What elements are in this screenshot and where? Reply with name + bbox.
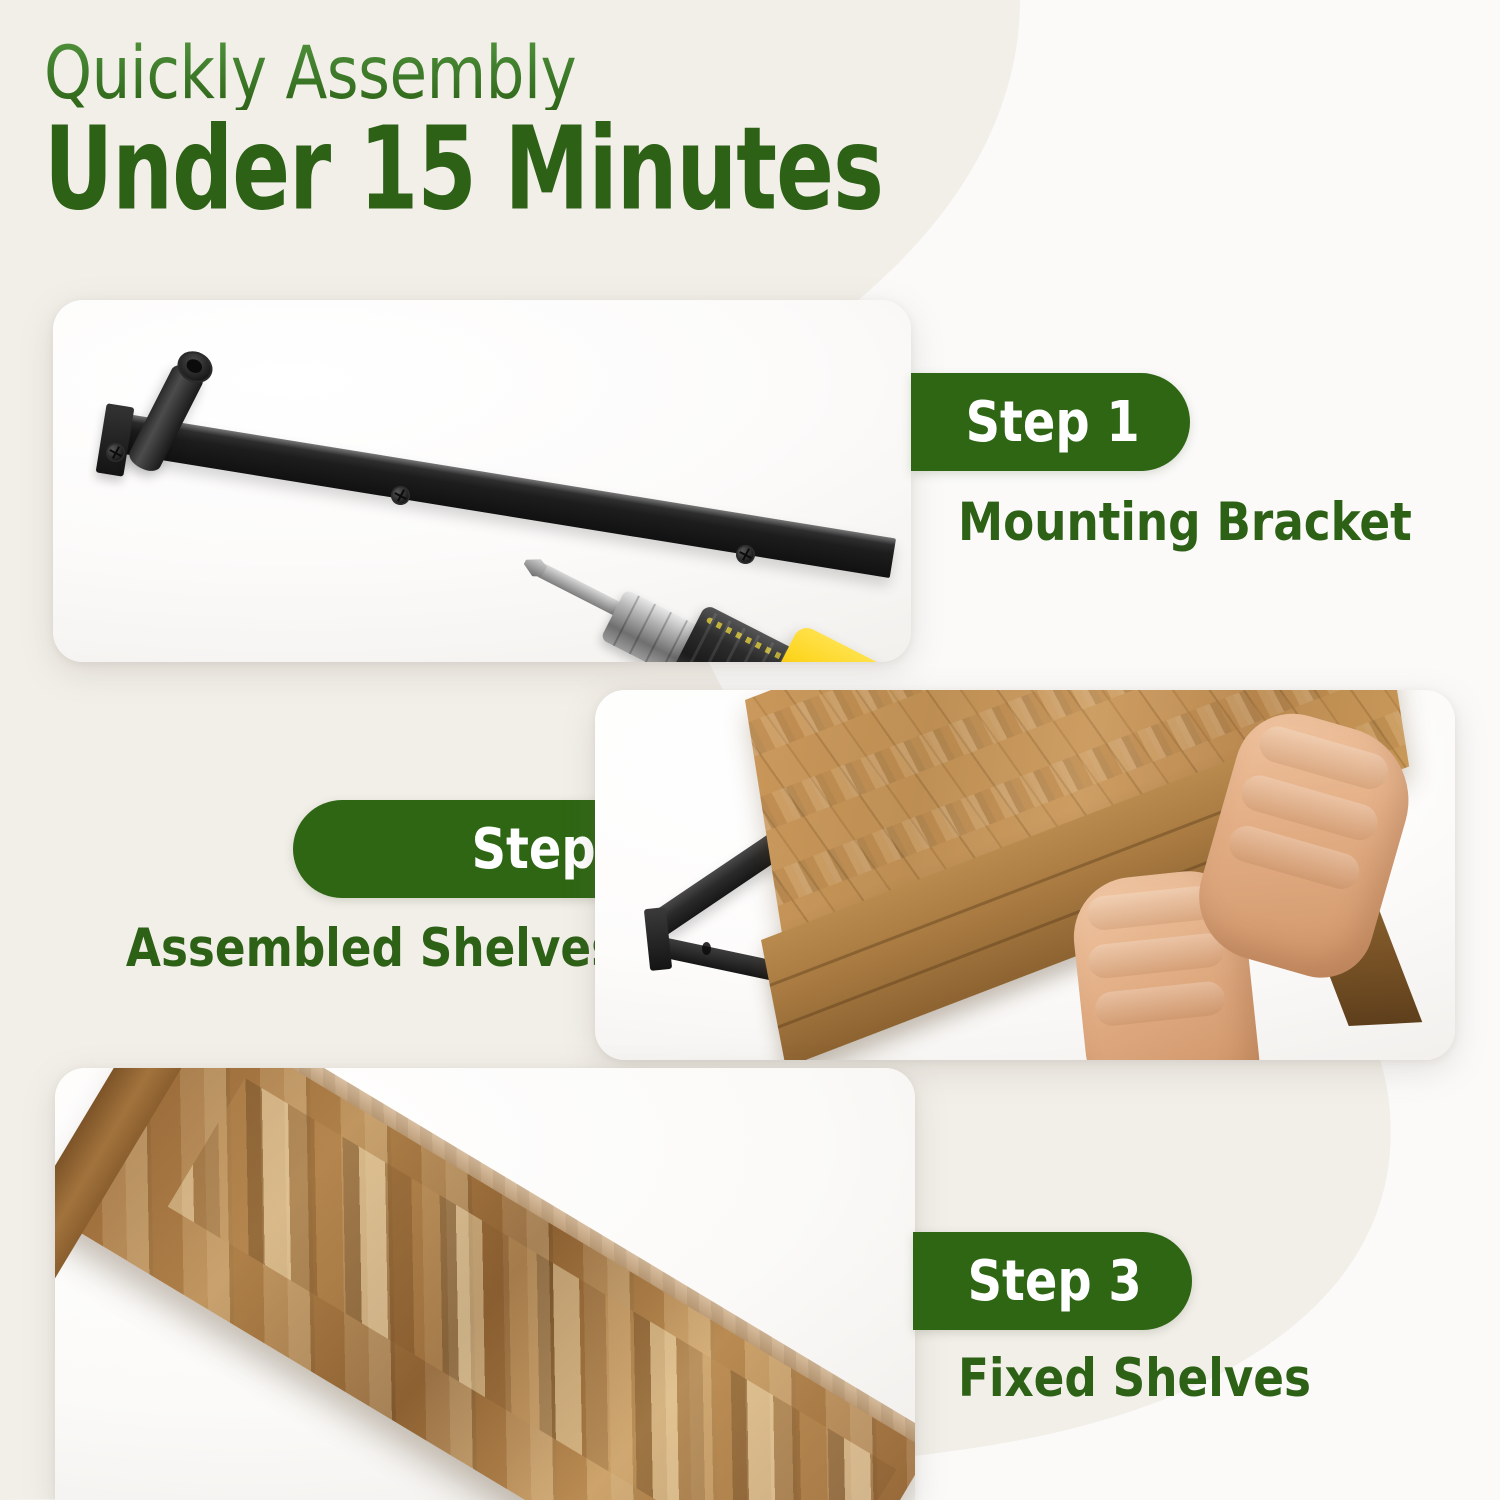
screw-hole-icon (702, 942, 711, 955)
step-1-badge: Step 1 (911, 373, 1190, 471)
step-1-badge-label: Step 1 (966, 390, 1140, 455)
screw-icon (391, 486, 410, 505)
step-3-photo-card (55, 1068, 915, 1500)
step-2-title: Assembled Shelves (126, 918, 618, 979)
screw-icon (106, 443, 125, 462)
step-1-photo (53, 300, 911, 662)
step-3-title: Fixed Shelves (958, 1348, 1311, 1409)
headline-line-1: Quickly Assembly (44, 38, 928, 110)
headline-line-2: Under 15 Minutes (44, 112, 918, 227)
step-3-badge-label: Step 3 (968, 1249, 1142, 1314)
step-1-title: Mounting Bracket (958, 492, 1412, 553)
step-3-badge: Step 3 (913, 1232, 1192, 1330)
step-3-photo (55, 1068, 915, 1500)
step-2-photo-card (595, 690, 1455, 1060)
step-2-photo (595, 690, 1455, 1060)
screw-icon (736, 545, 755, 564)
headline-block: Quickly Assembly Under 15 Minutes (44, 38, 994, 215)
infographic-canvas: Quickly Assembly Under 15 Minutes (0, 0, 1500, 1500)
step-1-photo-card (53, 300, 911, 662)
